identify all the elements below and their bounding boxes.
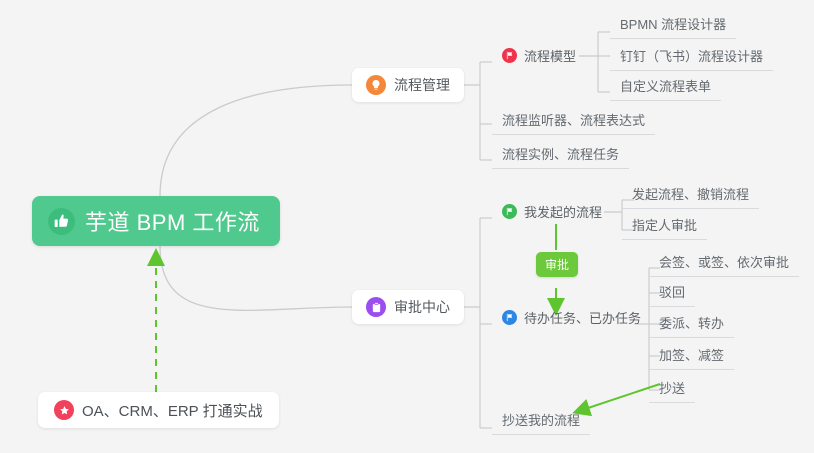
leaf-dingtalk-feishu-designer[interactable]: 钉钉（飞书）流程设计器 [610, 44, 773, 71]
lightbulb-icon [366, 75, 386, 95]
branch-label-process-management: 流程管理 [394, 75, 450, 95]
root-node[interactable]: 芋道 BPM 工作流 [32, 196, 280, 246]
subnode-my-initiated-process[interactable]: 我发起的流程 [492, 200, 612, 226]
flag-icon [502, 204, 517, 219]
subnode-label-process-model: 流程模型 [524, 46, 576, 65]
subnode-process-model[interactable]: 流程模型 [492, 44, 586, 70]
mindmap-canvas: 芋道 BPM 工作流 流程管理 流程模型 BPMN 流程设计器 钉钉（飞书）流程… [0, 0, 814, 453]
leaf-countersign-orsign-sequential[interactable]: 会签、或签、依次审批 [649, 250, 799, 277]
root-label: 芋道 BPM 工作流 [85, 205, 260, 237]
thumbs-up-icon [48, 208, 75, 235]
leaf-cc-my-process[interactable]: 抄送我的流程 [492, 408, 590, 435]
annotation-chip-approval: 审批 [536, 252, 578, 277]
flag-icon [502, 310, 517, 325]
leaf-custom-process-form[interactable]: 自定义流程表单 [610, 74, 721, 101]
leaf-process-listener-expression[interactable]: 流程监听器、流程表达式 [492, 108, 655, 135]
branch-node-process-management[interactable]: 流程管理 [352, 68, 464, 102]
flag-icon [502, 48, 517, 63]
subnode-label-todo-done-tasks: 待办任务、已办任务 [524, 308, 641, 327]
leaf-delegate-transfer[interactable]: 委派、转办 [649, 311, 734, 338]
branch-label-approval-center: 审批中心 [394, 297, 450, 317]
leaf-start-cancel-process[interactable]: 发起流程、撤销流程 [622, 182, 759, 209]
leaf-add-remove-sign[interactable]: 加签、减签 [649, 343, 734, 370]
leaf-process-instance-task[interactable]: 流程实例、流程任务 [492, 142, 629, 169]
leaf-assignee-approval[interactable]: 指定人审批 [622, 213, 707, 240]
leaf-bpmn-designer[interactable]: BPMN 流程设计器 [610, 12, 736, 39]
leaf-cc[interactable]: 抄送 [649, 376, 695, 403]
clipboard-icon [366, 297, 386, 317]
subnode-todo-done-tasks[interactable]: 待办任务、已办任务 [492, 306, 651, 332]
subnode-label-my-initiated-process: 我发起的流程 [524, 202, 602, 221]
leaf-reject[interactable]: 驳回 [649, 280, 695, 307]
annotation-node-oa-crm-erp[interactable]: OA、CRM、ERP 打通实战 [38, 392, 279, 428]
branch-node-approval-center[interactable]: 审批中心 [352, 290, 464, 324]
annotation-label-oa-crm-erp: OA、CRM、ERP 打通实战 [82, 400, 263, 421]
star-icon [54, 400, 74, 420]
